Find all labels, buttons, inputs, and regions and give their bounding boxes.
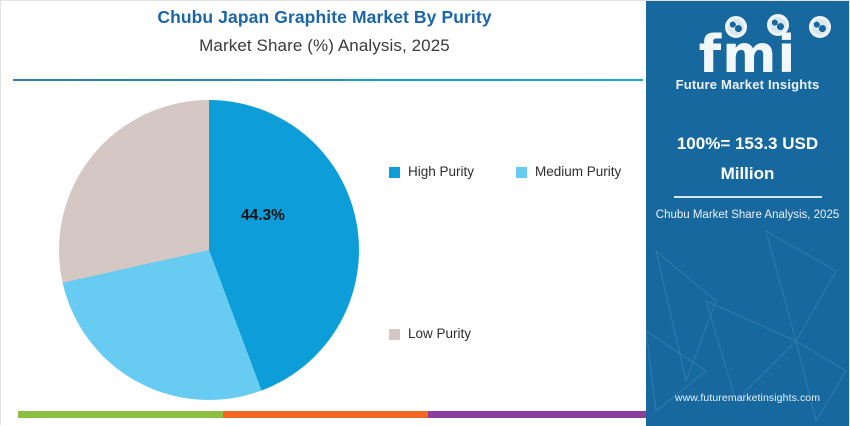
title-block: Chubu Japan Graphite Market By Purity Ma…	[1, 5, 648, 59]
header-divider	[13, 79, 643, 81]
pie-data-label: 44.3%	[241, 207, 285, 225]
legend-item-low-purity[interactable]: Low Purity	[389, 327, 471, 341]
sidebar-caption: Chubu Market Share Analysis, 2025	[654, 207, 841, 223]
green-segment	[18, 411, 223, 418]
legend-swatch-low-purity	[389, 329, 400, 340]
pie-slices	[59, 100, 359, 400]
legend-label-low-purity: Low Purity	[408, 327, 471, 341]
bottom-color-bar	[18, 411, 648, 418]
page-subtitle: Market Share (%) Analysis, 2025	[1, 33, 648, 59]
legend-item-medium-purity[interactable]: Medium Purity	[516, 165, 621, 179]
sidebar-divider	[674, 196, 822, 198]
branding-sidebar: fmi Future Market Insights 100%= 153.3 U…	[646, 1, 849, 426]
legend-swatch-high-purity	[389, 167, 400, 178]
fmi-logo: fmi Future Market Insights	[646, 11, 849, 95]
legend-item-high-purity[interactable]: High Purity	[389, 165, 474, 179]
purple-segment	[428, 411, 649, 418]
page-title: Chubu Japan Graphite Market By Purity	[1, 5, 648, 29]
legend-label-medium-purity: Medium Purity	[535, 165, 621, 179]
legend-swatch-medium-purity	[516, 167, 527, 178]
orange-segment	[223, 411, 428, 418]
market-value-note: 100%= 153.3 USD Million	[658, 129, 837, 189]
chart-panel: Chubu Japan Graphite Market By Purity Ma…	[1, 1, 648, 426]
logo-tagline: Future Market Insights	[646, 77, 849, 92]
chart-screenshot: Chubu Japan Graphite Market By Purity Ma…	[0, 0, 850, 425]
legend-label-high-purity: High Purity	[408, 165, 474, 179]
website-url[interactable]: www.futuremarketinsights.com	[646, 392, 849, 404]
pie-chart	[59, 100, 359, 400]
logo-wordmark: fmi	[646, 27, 849, 83]
